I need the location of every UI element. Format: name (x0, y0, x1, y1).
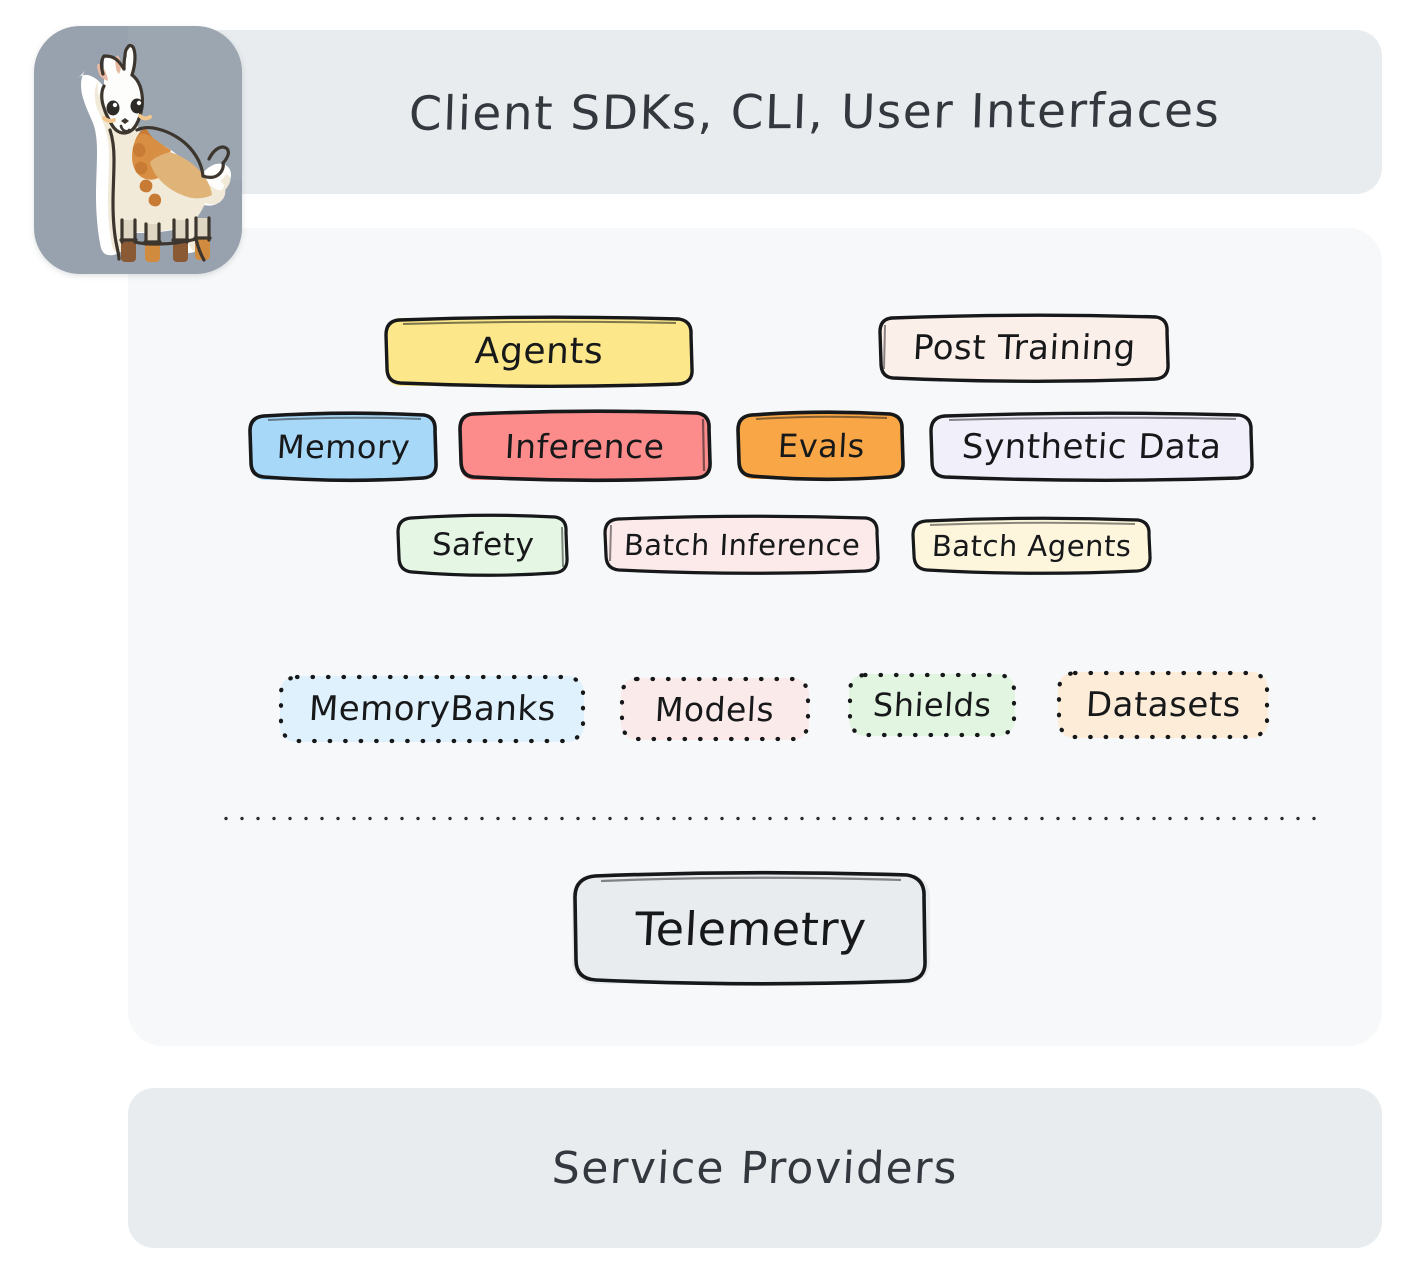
llama-logo-icon (42, 34, 242, 272)
diagram-canvas: Client SDKs, CLI, User Interfaces (0, 0, 1410, 1268)
telemetry-node[interactable]: Telemetry (572, 874, 930, 984)
resource-node-memorybanks[interactable]: MemoryBanks (280, 676, 584, 742)
resource-node-datasets-label: Datasets (1085, 688, 1242, 722)
api-node-post-training-label: Post Training (912, 331, 1136, 365)
client-layer-banner: Client SDKs, CLI, User Interfaces (128, 30, 1382, 194)
api-node-agents[interactable]: Agents (386, 318, 692, 386)
llama-logo-tile (34, 26, 242, 274)
api-node-batch-inference-label: Batch Inference (623, 531, 861, 560)
service-providers-banner-label: Service Providers (551, 1143, 960, 1194)
api-node-safety-label: Safety (431, 530, 535, 561)
resource-node-models[interactable]: Models (621, 678, 809, 740)
resource-node-models-label: Models (654, 693, 775, 726)
section-divider (218, 816, 1318, 821)
api-node-evals[interactable]: Evals (739, 413, 903, 479)
telemetry-node-label: Telemetry (634, 906, 868, 952)
api-node-post-training[interactable]: Post Training (880, 316, 1168, 380)
resource-node-datasets[interactable]: Datasets (1058, 672, 1268, 738)
api-node-evals-label: Evals (777, 430, 866, 462)
resource-node-shields[interactable]: Shields (849, 674, 1015, 736)
api-node-safety[interactable]: Safety (399, 516, 567, 574)
api-node-inference-label: Inference (504, 430, 665, 463)
api-node-batch-inference[interactable]: Batch Inference (606, 518, 878, 572)
resource-node-shields-label: Shields (872, 689, 992, 721)
api-node-batch-agents-label: Batch Agents (931, 532, 1132, 561)
api-node-batch-agents[interactable]: Batch Agents (914, 520, 1150, 572)
service-providers-banner: Service Providers (128, 1088, 1382, 1248)
client-layer-banner-label: Client SDKs, CLI, User Interfaces (408, 83, 1221, 142)
api-node-inference[interactable]: Inference (460, 412, 710, 480)
api-node-synthetic-data[interactable]: Synthetic Data (932, 414, 1252, 480)
api-node-agents-label: Agents (474, 334, 604, 370)
resource-node-memorybanks-label: MemoryBanks (308, 692, 557, 726)
api-node-memory-label: Memory (276, 431, 411, 463)
api-node-memory[interactable]: Memory (251, 414, 436, 480)
api-node-synthetic-data-label: Synthetic Data (961, 430, 1222, 464)
